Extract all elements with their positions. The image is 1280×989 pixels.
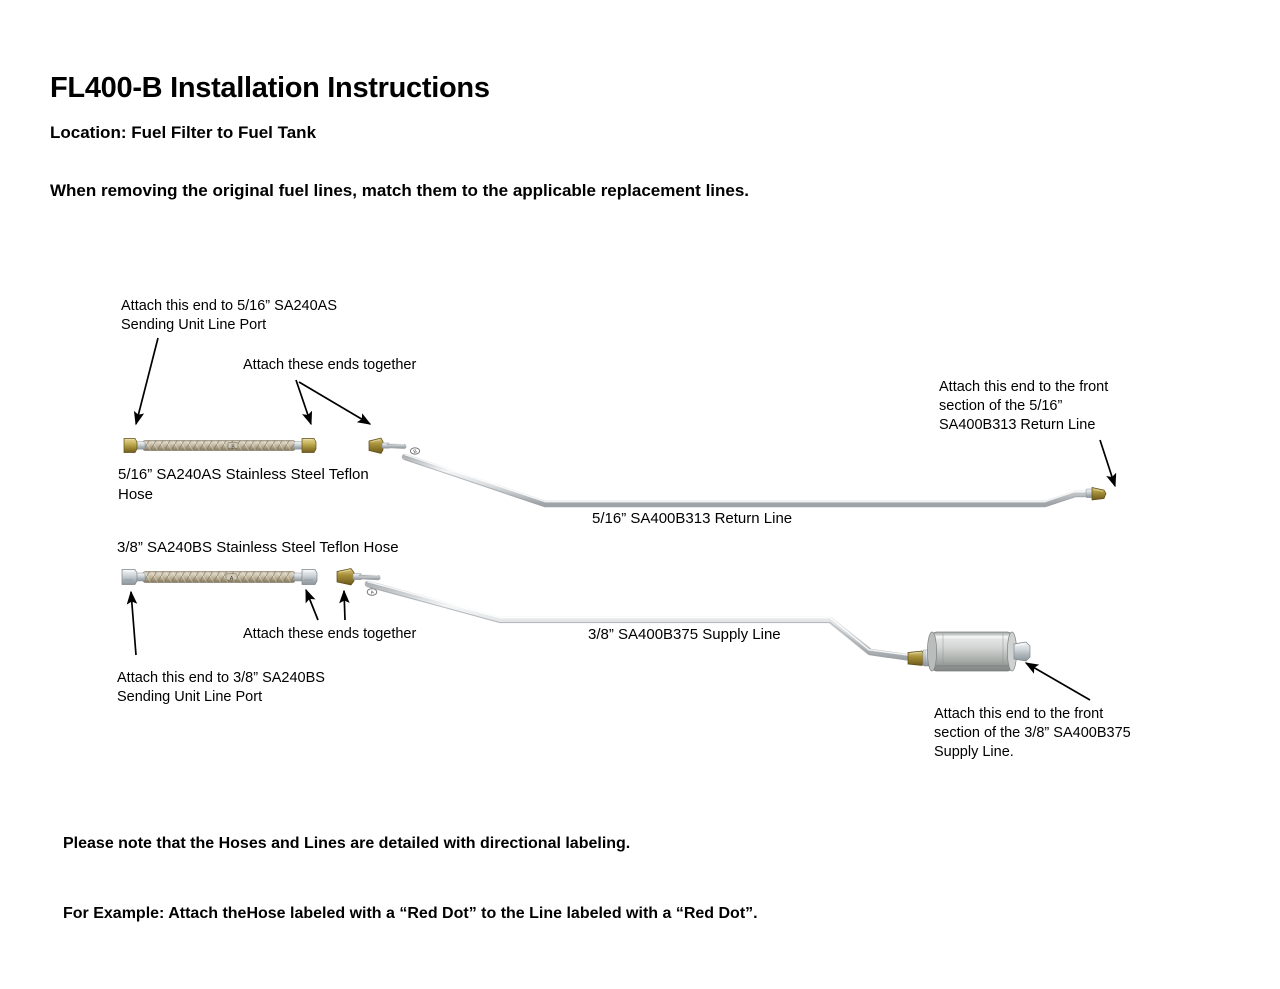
hose-assembly-a: B	[124, 439, 316, 453]
annotation-lower-right: Attach this end to the front section of …	[934, 705, 1131, 762]
svg-text:A: A	[230, 576, 234, 582]
arrow-lower-right	[1026, 663, 1090, 700]
annotation-lower-mid: Attach these ends together	[243, 625, 416, 644]
fuel-filter-canister	[927, 632, 1016, 671]
line-a-direction-tag: B	[410, 448, 419, 455]
arrow-lower-left	[131, 592, 136, 655]
annotation-lower-left: Attach this end to 3/8” SA240BS Sending …	[117, 669, 325, 707]
hose-b-right-fitting	[302, 570, 317, 585]
annotation-upper-right: Attach this end to the front section of …	[939, 378, 1108, 435]
hose-b-left-fitting	[122, 570, 137, 585]
arrow-upper-mid-left	[296, 380, 311, 424]
line-b-direction-tag: A	[367, 589, 377, 597]
annotation-upper-mid: Attach these ends together	[243, 356, 416, 375]
svg-text:A: A	[370, 589, 376, 596]
footer-note-1: Please note that the Hoses and Lines are…	[63, 832, 758, 855]
hose-a-right-fitting	[302, 439, 316, 453]
annotation-upper-left: Attach this end to 5/16” SA240AS Sending…	[121, 297, 337, 335]
arrow-upper-left	[136, 338, 158, 424]
hose-assembly-b: A	[122, 570, 317, 585]
arrow-upper-right	[1100, 440, 1115, 486]
arrow-lower-mid-right	[344, 591, 345, 620]
return-line-a: B	[369, 438, 1106, 507]
supply-line-b: A	[337, 569, 1030, 672]
arrow-lower-mid-left	[306, 590, 318, 620]
svg-text:B: B	[413, 448, 419, 455]
part-label-line-b: 3/8” SA400B375 Supply Line	[588, 625, 781, 645]
part-label-hose-a: 5/16” SA240AS Stainless Steel Teflon Hos…	[118, 465, 369, 504]
footer-notes: Please note that the Hoses and Lines are…	[63, 786, 758, 972]
part-label-hose-b: 3/8” SA240BS Stainless Steel Teflon Hose	[117, 538, 399, 558]
part-label-line-a: 5/16” SA400B313 Return Line	[592, 509, 792, 529]
footer-note-2: For Example: Attach theHose labeled with…	[63, 902, 758, 925]
instruction-sheet-page: FL400-B Installation Instructions Locati…	[0, 0, 1280, 989]
hose-a-left-fitting	[124, 439, 137, 453]
